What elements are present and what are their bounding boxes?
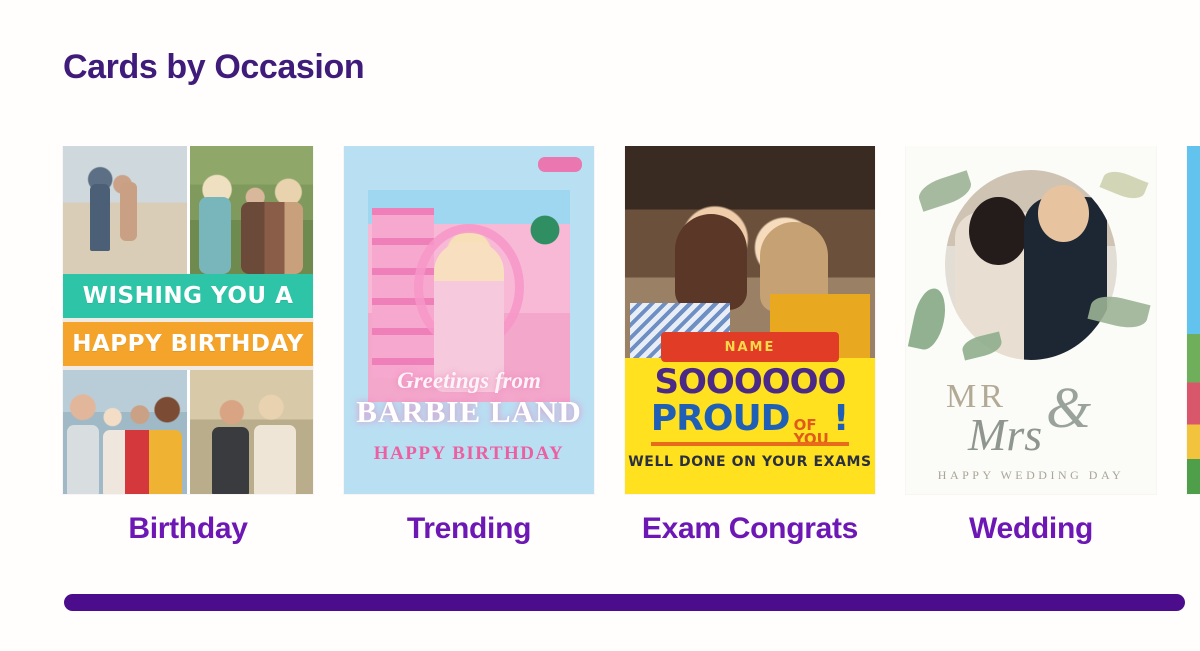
collage-photo-party — [63, 370, 187, 494]
carousel-scrollbar[interactable] — [64, 594, 1185, 611]
collage-photo-beach — [63, 146, 187, 274]
card-art-line3: WELL DONE ON YOUR EXAMS — [625, 454, 875, 470]
card-art-line1: WISHING YOU A — [63, 274, 313, 318]
collage-top-row — [63, 146, 313, 274]
card-art-divider — [651, 442, 849, 446]
cards-by-occasion-section: Cards by Occasion WISHING YOU A HAPPY BI… — [0, 0, 1200, 651]
card-art-line1: SOOOOOO — [625, 362, 875, 402]
card-art-exclamation: ! — [833, 398, 849, 439]
occasion-card-wedding[interactable]: MR & Mrs HAPPY WEDDING DAY — [906, 146, 1156, 494]
leaf-icon — [908, 286, 950, 353]
page-title: Cards by Occasion — [63, 48, 364, 87]
card-art-line1: Greetings from — [344, 368, 594, 394]
carousel-track[interactable]: WISHING YOU A HAPPY BIRTHDAY Greetings f… — [63, 146, 1200, 494]
card-art-line2-group: PROUD OF YOU ! — [625, 398, 875, 447]
name-placeholder-banner: NAME — [661, 332, 839, 362]
occasion-card-next-partial[interactable] — [1187, 146, 1200, 494]
collage-photo-festival — [187, 370, 314, 494]
leaf-icon — [1099, 167, 1148, 204]
occasion-label-exam-congrats[interactable]: Exam Congrats — [625, 512, 875, 546]
occasion-label-birthday[interactable]: Birthday — [63, 512, 313, 546]
collage-bottom-row — [63, 370, 313, 494]
card-art-line2: PROUD — [651, 398, 790, 439]
card-art-line2: HAPPY BIRTHDAY — [63, 322, 313, 366]
occasion-carousel[interactable]: WISHING YOU A HAPPY BIRTHDAY Greetings f… — [0, 146, 1200, 496]
occasion-labels-row: Birthday Trending Exam Congrats Wedding — [63, 512, 1156, 546]
occasion-card-exam-congrats[interactable]: NAME SOOOOOO PROUD OF YOU ! WELL DONE ON… — [625, 146, 875, 494]
occasion-label-wedding[interactable]: Wedding — [906, 512, 1156, 546]
barbie-logo-icon — [538, 157, 582, 172]
occasion-card-trending[interactable]: Greetings from BARBIE LAND HAPPY BIRTHDA… — [344, 146, 594, 494]
card-art-line2: BARBIE LAND — [344, 394, 594, 430]
exam-photo-two-friends — [625, 146, 875, 358]
photo-person-left — [675, 214, 747, 310]
occasion-label-trending[interactable]: Trending — [344, 512, 594, 546]
palm-tree-icon — [528, 206, 562, 246]
occasion-card-birthday[interactable]: WISHING YOU A HAPPY BIRTHDAY — [63, 146, 313, 494]
card-art-ampersand: & — [1046, 374, 1091, 441]
card-art-line2: Mrs — [968, 408, 1042, 461]
card-art-line3: HAPPY WEDDING DAY — [906, 468, 1156, 483]
wedding-photo-couple — [945, 170, 1117, 360]
card-art-line3: HAPPY BIRTHDAY — [344, 443, 594, 465]
collage-photo-friends-field — [187, 146, 314, 274]
photo-bride-hair — [969, 197, 1027, 265]
